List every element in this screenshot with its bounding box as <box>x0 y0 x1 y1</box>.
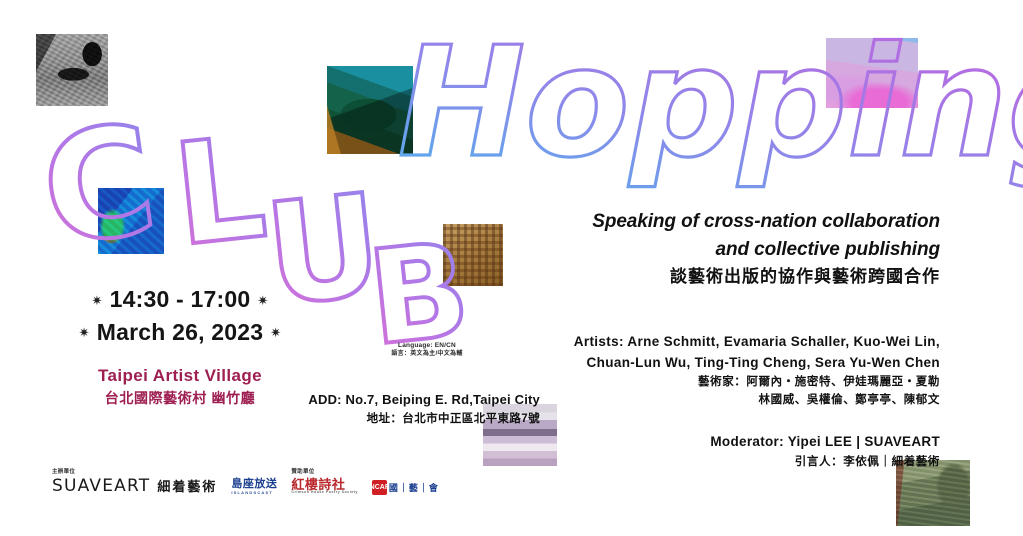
asterisk-icon-left-2: ✷ <box>72 325 97 340</box>
organizer-logo: SUAVEART 細着藝術 <box>52 478 217 495</box>
ncaf-seal-icon: NCAF <box>372 480 387 495</box>
headline-zh: 談藝術出版的協作與藝術跨國合作 <box>520 263 940 292</box>
poster-canvas: Hopping C L U B ✷14:30 - 17:00✷ ✷March 2… <box>0 0 1023 536</box>
address-zh: 地址：台北市中正區北平東路7號 <box>250 410 540 428</box>
schedule-date: March 26, 2023 <box>97 319 263 345</box>
partner-group: 島座放送 ISLANDSCAST <box>231 479 277 495</box>
title-letter-c: C <box>32 93 165 281</box>
artists-zh-line2: 林國威、吳權倫、鄭亭亭、陳郁文 <box>520 391 940 409</box>
asterisk-icon-left: ✷ <box>85 293 110 308</box>
address-en: ADD: No.7, Beiping E. Rd,Taipei City <box>250 390 540 410</box>
suaveart-wordmark-zh: 細着藝術 <box>157 480 217 493</box>
islandscast-name-en: ISLANDSCAST <box>231 491 277 495</box>
artists-zh-line1: 藝術家：阿爾內・施密特、伊娃瑪麗亞・夏勒 <box>520 373 940 391</box>
language-note-block: Language: EN/CN 語言：英文為主/中文為輔 <box>352 341 502 359</box>
schedule-time: 14:30 - 17:00 <box>110 286 251 312</box>
islandscast-logo: 島座放送 ISLANDSCAST <box>231 479 277 495</box>
crimson-house-logo: 紅樓詩社 Crimson House Poetry Society <box>291 478 358 495</box>
ncaf-logo: NCAF 國｜藝｜會 <box>372 480 439 495</box>
schedule-block: ✷14:30 - 17:00✷ ✷March 26, 2023✷ <box>60 283 300 348</box>
supporter-group: 贊助單位 紅樓詩社 Crimson House Poetry Society <box>291 470 358 495</box>
artists-en-line1: Artists: Arne Schmitt, Evamaria Schaller… <box>520 332 940 353</box>
crimson-house-name-en: Crimson House Poetry Society <box>291 491 358 495</box>
asterisk-icon-right-2: ✷ <box>263 325 288 340</box>
schedule-date-line: ✷March 26, 2023✷ <box>60 316 300 349</box>
artists-en-line2: Chuan-Lun Wu, Ting-Ting Cheng, Sera Yu-W… <box>520 353 940 374</box>
organizer-group: 主辦單位 SUAVEART 細着藝術 <box>52 470 217 495</box>
moderator-block: Moderator: Yipei LEE | SUAVEART 引言人：李依佩｜… <box>520 432 940 471</box>
islandscast-name-zh: 島座放送 <box>231 478 277 490</box>
ncaf-name-zh: 國｜藝｜會 <box>389 481 439 494</box>
asterisk-icon-right: ✷ <box>250 293 275 308</box>
headline-en-line1: Speaking of cross-nation collaboration <box>520 208 940 236</box>
moderator-en: Moderator: Yipei LEE | SUAVEART <box>520 432 940 453</box>
supporter-caption: 贊助單位 <box>291 470 358 476</box>
title-letter-l: L <box>167 107 273 278</box>
suaveart-wordmark: SUAVEART <box>52 478 150 495</box>
language-note-en: Language: EN/CN <box>352 341 502 350</box>
language-note-zh: 語言：英文為主/中文為輔 <box>352 350 502 359</box>
title-word-hopping: Hopping <box>398 14 1023 191</box>
venue-name-en: Taipei Artist Village <box>60 365 300 388</box>
artists-block: Artists: Arne Schmitt, Evamaria Schaller… <box>520 332 940 410</box>
address-block: ADD: No.7, Beiping E. Rd,Taipei City 地址：… <box>250 390 540 428</box>
sponsor-footer: 主辦單位 SUAVEART 細着藝術 島座放送 ISLANDSCAST 贊助單位… <box>52 470 439 495</box>
headline-block: Speaking of cross-nation collaboration a… <box>520 208 940 292</box>
moderator-zh: 引言人：李依佩｜細着藝術 <box>520 453 940 471</box>
schedule-time-line: ✷14:30 - 17:00✷ <box>60 283 300 316</box>
headline-en-line2: and collective publishing <box>520 236 940 264</box>
